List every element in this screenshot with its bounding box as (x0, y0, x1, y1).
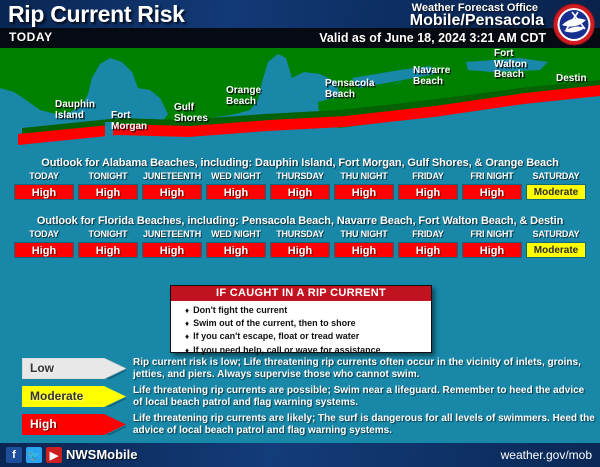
outlook-florida-values: High High High High High High High High … (12, 241, 588, 260)
day-header-tonight: TONIGHT (76, 170, 140, 183)
day-header-tonight: TONIGHT (76, 228, 140, 241)
risk-cell: High (462, 242, 522, 258)
twitter-icon[interactable]: 🐦 (26, 447, 42, 463)
footer-bar: f 🐦 ▶ NWSMobile weather.gov/mob (0, 443, 600, 467)
legend-label-high: High (30, 417, 57, 431)
coastal-map: Dauphin Island Fort Morgan Gulf Shores O… (0, 48, 600, 150)
day-header-wed-night: WED NIGHT (204, 170, 268, 183)
legend-label-moderate: Moderate (30, 389, 83, 403)
rip-current-risk-graphic: Rip Current Risk Weather Forecast Office… (0, 0, 600, 467)
if-caught-item: ♦Swim out of the current, then to shore (185, 317, 431, 330)
outlook-florida-title: Outlook for Florida Beaches, including: … (12, 214, 588, 228)
if-caught-item-text: If you need help, call or wave for assis… (193, 345, 381, 355)
risk-cell: Moderate (526, 242, 586, 258)
outlook-alabama: Outlook for Alabama Beaches, including: … (12, 156, 588, 202)
diamond-bullet-icon: ♦ (185, 306, 189, 315)
risk-cell: High (14, 242, 74, 258)
legend-label-low: Low (30, 361, 54, 375)
if-caught-item-text: Don't fight the current (193, 305, 287, 315)
if-caught-item: ♦If you need help, call or wave for assi… (185, 344, 431, 357)
outlook-alabama-day-headers: TODAY TONIGHT JUNETEENTH WED NIGHT THURS… (12, 170, 588, 183)
day-header-saturday: SATURDAY (524, 170, 588, 183)
day-header-fri-night: FRI NIGHT (460, 170, 524, 183)
legend-desc-moderate: Life threatening rip currents are possib… (133, 385, 595, 409)
map-vector (0, 48, 600, 150)
social-handle[interactable]: NWSMobile (66, 447, 138, 462)
legend-arrow-moderate: Moderate (22, 386, 126, 407)
website-url[interactable]: weather.gov/mob (501, 448, 592, 462)
risk-cell: High (78, 242, 138, 258)
day-header-today: TODAY (12, 170, 76, 183)
risk-cell: High (334, 184, 394, 200)
if-caught-item: ♦If you can't escape, float or tread wat… (185, 330, 431, 343)
risk-cell: High (270, 242, 330, 258)
risk-cell: High (14, 184, 74, 200)
if-caught-item: ♦Don't fight the current (185, 304, 431, 317)
legend-desc-high: Life threatening rip currents are likely… (133, 413, 595, 437)
risk-cell: High (78, 184, 138, 200)
diamond-bullet-icon: ♦ (185, 319, 189, 328)
risk-cell: High (462, 184, 522, 200)
outlook-florida: Outlook for Florida Beaches, including: … (12, 214, 588, 260)
risk-cell: High (142, 242, 202, 258)
if-caught-item-text: If you can't escape, float or tread wate… (193, 331, 359, 341)
valid-timestamp: Valid as of June 18, 2024 3:21 AM CDT (319, 31, 546, 45)
today-badge: TODAY (9, 30, 53, 44)
facebook-icon[interactable]: f (6, 447, 22, 463)
if-caught-list: ♦Don't fight the current ♦Swim out of th… (171, 301, 431, 357)
youtube-icon[interactable]: ▶ (46, 447, 62, 463)
risk-legend: Low Rip current risk is low; Life threat… (0, 356, 600, 440)
day-header-thu-night: THU NIGHT (332, 228, 396, 241)
nws-logo (552, 3, 596, 46)
outlook-alabama-title: Outlook for Alabama Beaches, including: … (12, 156, 588, 170)
legend-row-low: Low Rip current risk is low; Life threat… (0, 356, 600, 384)
risk-cell: High (398, 242, 458, 258)
day-header-fri-night: FRI NIGHT (460, 228, 524, 241)
day-header-juneteenth: JUNETEENTH (140, 170, 204, 183)
if-caught-panel: IF CAUGHT IN A RIP CURRENT ♦Don't fight … (170, 285, 432, 353)
legend-desc-low: Rip current risk is low; Life threatenin… (133, 357, 595, 381)
day-header-wed-night: WED NIGHT (204, 228, 268, 241)
risk-cell: High (142, 184, 202, 200)
day-header-juneteenth: JUNETEENTH (140, 228, 204, 241)
risk-cell: High (270, 184, 330, 200)
legend-arrow-low: Low (22, 358, 126, 379)
risk-cell: High (206, 242, 266, 258)
risk-cell: High (206, 184, 266, 200)
risk-cell: High (398, 184, 458, 200)
outlook-florida-day-headers: TODAY TONIGHT JUNETEENTH WED NIGHT THURS… (12, 228, 588, 241)
if-caught-heading: IF CAUGHT IN A RIP CURRENT (171, 286, 431, 301)
outlook-alabama-values: High High High High High High High High … (12, 183, 588, 202)
day-header-thu-night: THU NIGHT (332, 170, 396, 183)
legend-arrow-high: High (22, 414, 126, 435)
day-header-thursday: THURSDAY (268, 170, 332, 183)
page-title: Rip Current Risk (8, 1, 185, 28)
legend-row-moderate: Moderate Life threatening rip currents a… (0, 384, 600, 412)
if-caught-item-text: Swim out of the current, then to shore (193, 318, 356, 328)
map-pass-mobile (105, 122, 113, 148)
risk-cell: High (334, 242, 394, 258)
day-header-today: TODAY (12, 228, 76, 241)
day-header-thursday: THURSDAY (268, 228, 332, 241)
social-links: f 🐦 ▶ (6, 447, 62, 463)
day-header-friday: FRIDAY (396, 170, 460, 183)
risk-cell: Moderate (526, 184, 586, 200)
diamond-bullet-icon: ♦ (185, 332, 189, 341)
day-header-saturday: SATURDAY (524, 228, 588, 241)
day-header-friday: FRIDAY (396, 228, 460, 241)
legend-row-high: High Life threatening rip currents are l… (0, 412, 600, 440)
diamond-bullet-icon: ♦ (185, 346, 189, 355)
